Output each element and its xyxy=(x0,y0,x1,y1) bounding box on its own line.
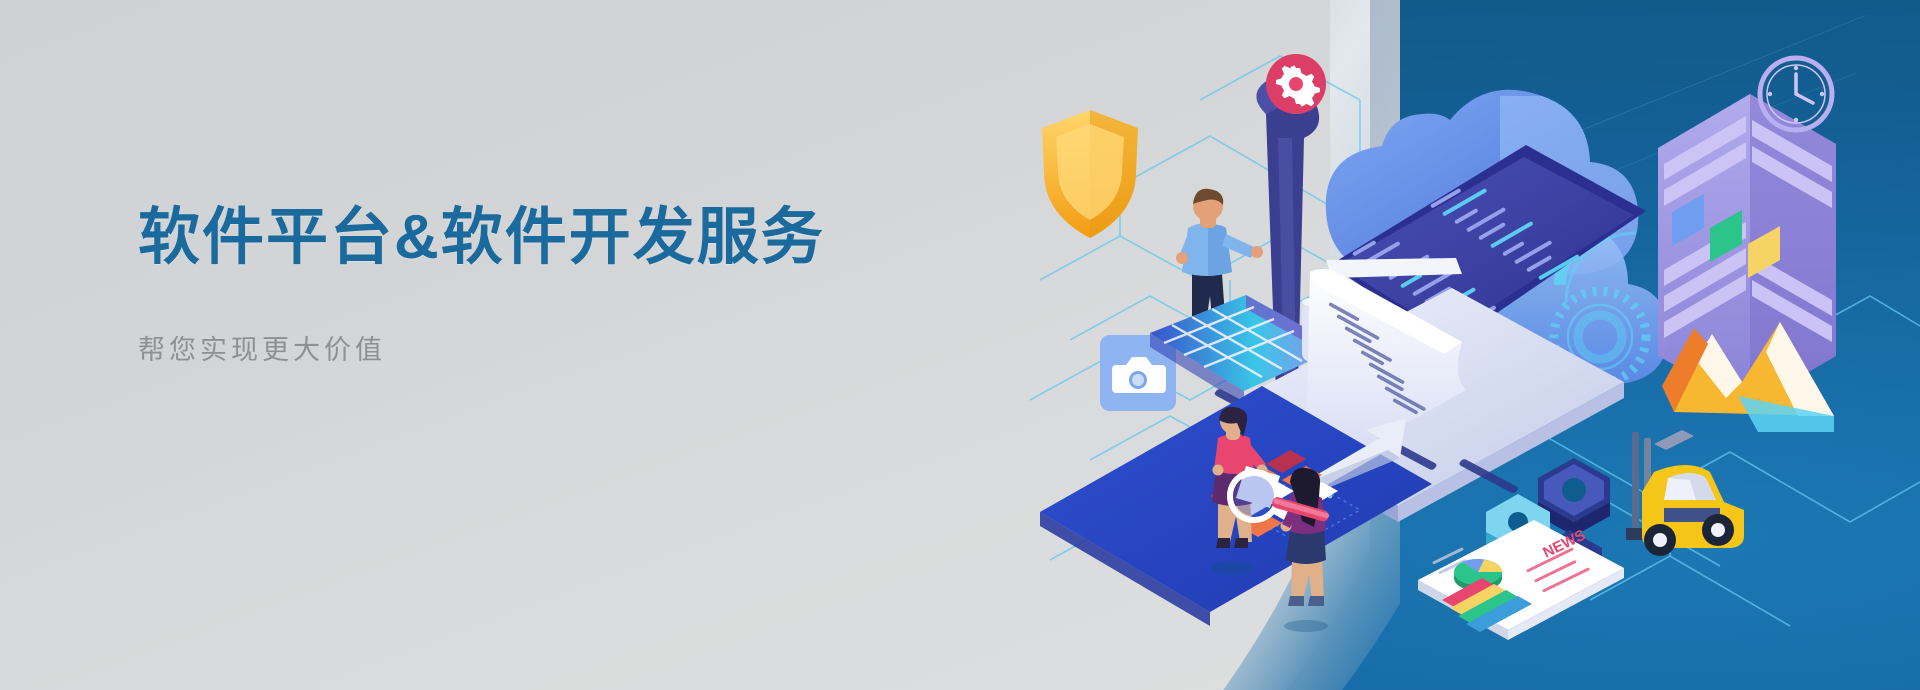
gear-badge-icon xyxy=(1266,54,1326,114)
page-title: 软件平台&软件开发服务 xyxy=(138,205,898,272)
clock-icon xyxy=(1760,58,1832,130)
forklift-vehicle xyxy=(1626,430,1744,556)
shield-icon xyxy=(1042,110,1138,238)
hero-banner: 软件平台&软件开发服务 帮您实现更大价值 xyxy=(0,0,1920,690)
banner-copy: 软件平台&软件开发服务 帮您实现更大价值 xyxy=(138,205,898,367)
news-report-card: NEWS xyxy=(1418,520,1624,640)
hero-illustration: NEWS xyxy=(1030,40,1920,660)
page-subtitle: 帮您实现更大价值 xyxy=(138,328,898,367)
